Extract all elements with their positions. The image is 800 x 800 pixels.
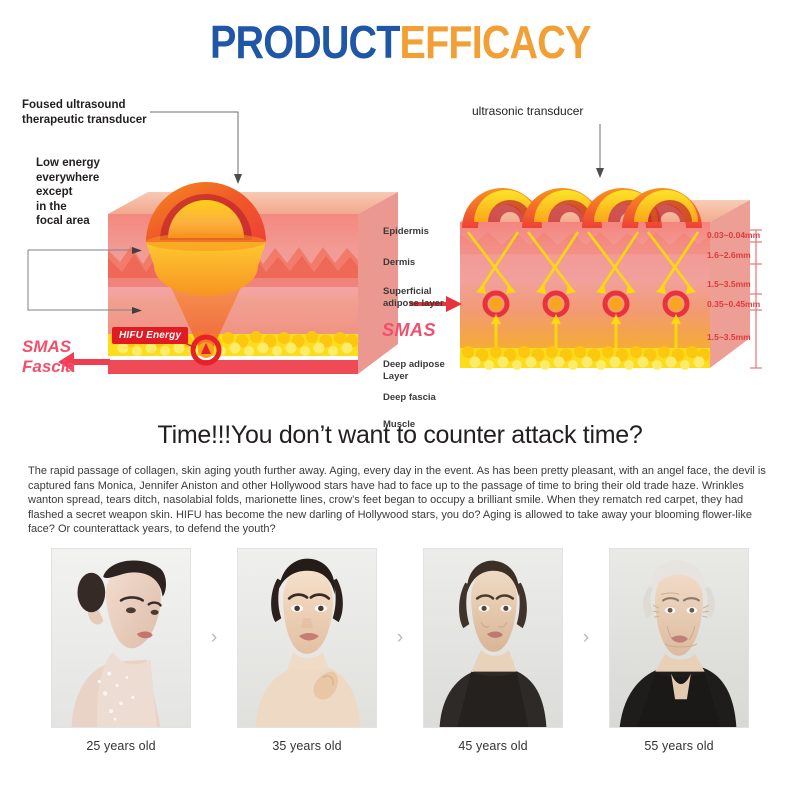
layer-label-deep-adipose: Deep adipose Layer xyxy=(383,359,445,383)
portrait-55-graphic xyxy=(610,549,748,727)
diagram-focused-ultrasound: Foused ultrasound therapeutic transducer… xyxy=(0,82,400,394)
label-low-energy: Low energy everywhere except in the foca… xyxy=(36,156,100,229)
layer-label-dermis: Dermis xyxy=(383,257,415,269)
age-cell-45: 45 years old xyxy=(417,548,569,753)
label-ultrasonic-transducer: ultrasonic transducer xyxy=(472,104,583,119)
page-header: PRODUCTEFFICACY xyxy=(0,14,800,70)
depth-label-deep-adipose: 1.5~3.5mm xyxy=(707,332,751,343)
photo-45 xyxy=(423,548,563,728)
age-cell-35: 35 years old xyxy=(231,548,383,753)
layer-label-deep-fascia: Deep fascia xyxy=(383,392,436,404)
caption-25: 25 years old xyxy=(86,739,155,753)
label-focused-transducer: Foused ultrasound therapeutic transducer xyxy=(22,98,147,127)
layer-label-smas: SMAS xyxy=(382,323,436,338)
chevron-right-icon-3: › xyxy=(569,548,603,728)
layer-label-epidermis: Epidermis xyxy=(383,226,429,238)
depth-label-superficial-adipose: 1.5~3.5mm xyxy=(707,279,751,290)
section-paragraph: The rapid passage of collagen, skin agin… xyxy=(28,464,772,537)
photo-35 xyxy=(237,548,377,728)
middle-section: Time!!!You don’t want to counter attack … xyxy=(0,420,800,537)
title-part-efficacy: EFFICACY xyxy=(399,16,590,68)
photo-55 xyxy=(609,548,749,728)
caption-55: 55 years old xyxy=(644,739,713,753)
chevron-right-icon-1: › xyxy=(197,548,231,728)
diagram-smas-layers: ultrasonic transducer Epidermis Dermis S… xyxy=(400,82,800,394)
layer-label-superficial-adipose: Superficial adipose layer xyxy=(383,286,444,310)
chevron-right-icon-2: › xyxy=(383,548,417,728)
title-part-product: PRODUCT xyxy=(210,16,400,68)
age-progression-strip: 25 years old › xyxy=(0,548,800,748)
label-hifu-energy: HIFU Energy xyxy=(112,327,188,344)
portrait-35-graphic xyxy=(238,549,376,727)
depth-label-dermis: 1.6~2.6mm xyxy=(707,250,751,261)
age-cell-25: 25 years old xyxy=(45,548,197,753)
photo-25 xyxy=(51,548,191,728)
page-title: PRODUCTEFFICACY xyxy=(210,19,591,65)
section-heading: Time!!!You don’t want to counter attack … xyxy=(0,420,800,450)
depth-label-smas: 0.35~0.45mm xyxy=(707,299,760,310)
portrait-45-graphic xyxy=(424,549,562,727)
product-efficacy-page: PRODUCTEFFICACY xyxy=(0,0,800,800)
depth-label-epidermis: 0.03~0.04mm xyxy=(707,230,760,241)
age-cell-55: 55 years old xyxy=(603,548,755,753)
diagram-band: Foused ultrasound therapeutic transducer… xyxy=(0,82,800,394)
caption-35: 35 years old xyxy=(272,739,341,753)
portrait-25-graphic xyxy=(52,549,190,727)
caption-45: 45 years old xyxy=(458,739,527,753)
label-smas-fascia: SMAS Fascia xyxy=(22,337,75,377)
